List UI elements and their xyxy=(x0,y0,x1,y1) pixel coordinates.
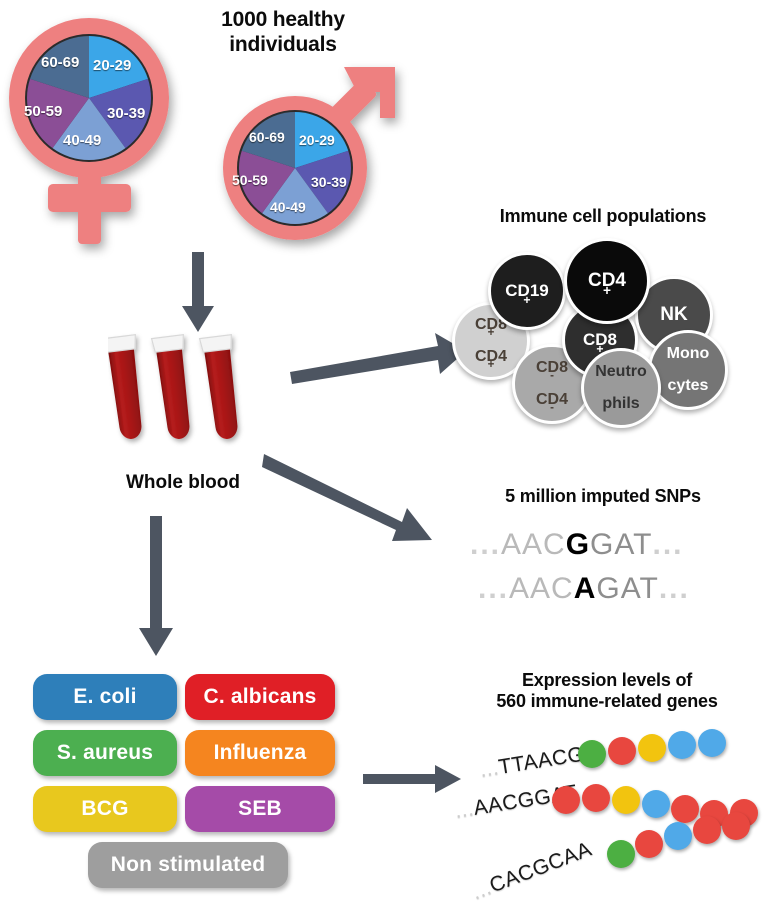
snp-row-1: ...AACGGAT... xyxy=(470,528,684,562)
rna-bead-2-5 xyxy=(671,795,699,823)
stim-box-bcg[interactable]: BCG xyxy=(33,786,177,832)
snp-allele-1: G xyxy=(566,528,590,561)
snp-dots-left-2: ... xyxy=(478,572,509,605)
rna-bead-3-2 xyxy=(635,830,663,858)
stim-box-non-stimulated[interactable]: Non stimulated xyxy=(88,842,288,888)
rna-strand-3-sequence: CACGCAA xyxy=(486,838,594,898)
cell-circle-monocytes[interactable]: Mono cytes xyxy=(648,330,728,410)
cell-label-neutrophils-l2: phils xyxy=(595,396,647,412)
rna-bead-3-1 xyxy=(607,840,635,868)
snp-allele-2: A xyxy=(574,572,597,605)
section-title-immune-cells: Immune cell populations xyxy=(448,206,758,227)
rna-bead-2-2 xyxy=(582,784,610,812)
cell-label-nk: NK xyxy=(660,305,687,324)
stim-label-influenza: Influenza xyxy=(214,741,307,765)
rna-strand-3-label: ...CACGCAA xyxy=(469,838,596,906)
expression-title-line1: Expression levels of xyxy=(452,670,762,691)
stim-label-non-stimulated: Non stimulated xyxy=(111,853,265,877)
stim-box-influenza[interactable]: Influenza xyxy=(185,730,335,776)
rna-bead-1-2 xyxy=(608,737,636,765)
arrow-individuals-to-blood xyxy=(178,252,218,334)
rna-bead-3-3 xyxy=(664,822,692,850)
blood-tubes-icon xyxy=(108,330,258,460)
cell-circle-neutrophils[interactable]: Neutro phils xyxy=(581,348,661,428)
cohort-title-line1: 1000 healthy xyxy=(178,8,388,33)
section-title-expression: Expression levels of 560 immune-related … xyxy=(452,670,762,712)
cell-label-monocytes-l2: cytes xyxy=(667,378,710,394)
label-whole-blood: Whole blood xyxy=(88,472,278,494)
snp-row-2: ...AACAGAT... xyxy=(478,572,690,606)
snp-pre-2: AAC xyxy=(509,572,574,605)
rna-bead-2-3 xyxy=(612,786,640,814)
arrow-blood-to-stimulations xyxy=(135,516,177,658)
snp-dots-right-2: ... xyxy=(659,572,690,605)
arrow-blood-to-snps xyxy=(262,448,442,548)
cell-circle-cd19p[interactable]: CD19+ xyxy=(488,252,566,330)
cell-label-monocytes-l1: Mono xyxy=(667,346,710,362)
male-symbol: 20-29 30-39 40-49 50-59 60-69 xyxy=(205,50,410,255)
female-age-pie xyxy=(25,34,153,162)
rna-strands-group: ...TTAACGG ...AACGGAT ...CACGCAA xyxy=(455,742,771,917)
rna-bead-1-5 xyxy=(698,729,726,757)
rna-bead-2-4 xyxy=(642,790,670,818)
snp-pre-1: AAC xyxy=(501,528,566,561)
arrow-stimulations-to-expression xyxy=(363,765,463,795)
snp-post-2: GAT xyxy=(596,572,658,605)
female-symbol: 20-29 30-39 40-49 50-59 60-69 xyxy=(2,12,192,262)
snp-post-1: GAT xyxy=(590,528,652,561)
stim-label-c-albicans: C. albicans xyxy=(203,685,316,709)
cell-label-neutrophils-l1: Neutro xyxy=(595,364,647,380)
immune-cell-cluster: CD8+ CD4+ CD8- CD4- CD19+ CD4+ NK CD8+ N… xyxy=(452,238,762,423)
snp-dots-left-1: ... xyxy=(470,528,501,561)
rna-bead-1-3 xyxy=(638,734,666,762)
stimulation-conditions-group: E. coli C. albicans S. aureus Influenza … xyxy=(33,674,343,894)
stim-box-s-aureus[interactable]: S. aureus xyxy=(33,730,177,776)
rna-bead-1-1 xyxy=(578,740,606,768)
stim-label-seb: SEB xyxy=(238,797,282,821)
stim-label-s-aureus: S. aureus xyxy=(57,741,153,765)
rna-bead-1-4 xyxy=(668,731,696,759)
rna-bead-3-4 xyxy=(693,816,721,844)
diagram-canvas: 1000 healthy individuals xyxy=(0,0,771,922)
stim-box-seb[interactable]: SEB xyxy=(185,786,335,832)
arrow-blood-to-immune-cells xyxy=(288,330,468,390)
rna-bead-2-1 xyxy=(552,786,580,814)
stim-label-bcg: BCG xyxy=(81,797,128,821)
stim-label-e-coli: E. coli xyxy=(73,685,136,709)
cell-circle-cd4p[interactable]: CD4+ xyxy=(564,238,650,324)
snp-sequence-block: ...AACGGAT... ...AACAGAT... xyxy=(470,528,750,618)
stim-box-e-coli[interactable]: E. coli xyxy=(33,674,177,720)
section-title-snps: 5 million imputed SNPs xyxy=(448,486,758,507)
male-age-pie xyxy=(237,110,353,226)
rna-bead-3-5 xyxy=(722,812,750,840)
expression-title-line2: 560 immune-related genes xyxy=(452,691,762,712)
snp-dots-right-1: ... xyxy=(653,528,684,561)
stim-box-c-albicans[interactable]: C. albicans xyxy=(185,674,335,720)
